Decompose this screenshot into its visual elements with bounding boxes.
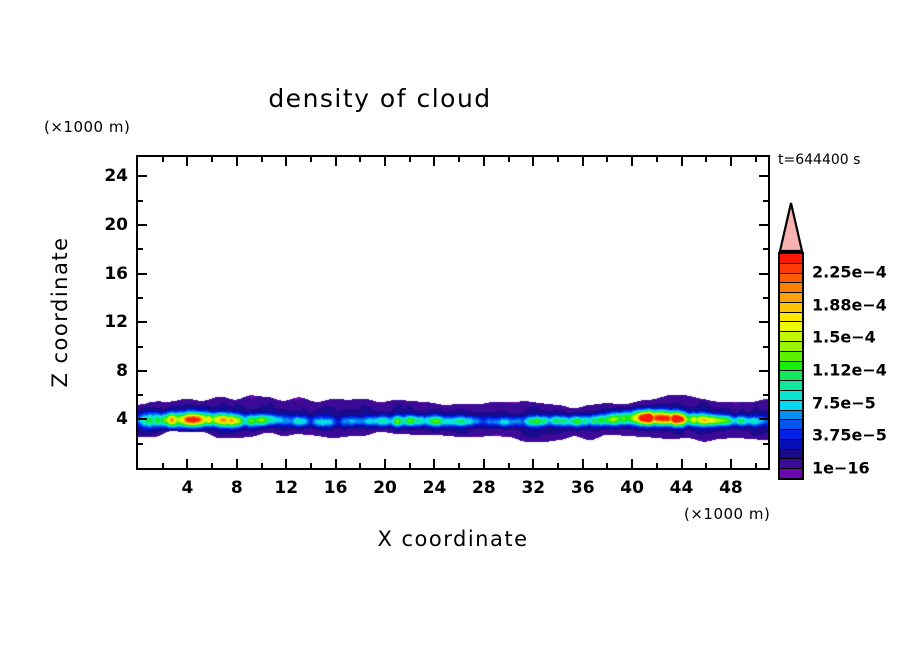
- tick-mark: [606, 157, 608, 162]
- tick-mark: [763, 443, 768, 445]
- tick-mark: [458, 157, 460, 162]
- colorbar-tick-label: 7.5e−5: [812, 393, 876, 412]
- colorbar-tick-label: 1.12e−4: [812, 361, 887, 380]
- colorbar: [778, 202, 804, 480]
- y-tick-label: 8: [90, 361, 128, 381]
- colorbar-arrow-cap-icon: [778, 202, 804, 252]
- x-tick-label: 36: [571, 478, 595, 498]
- tick-mark: [759, 273, 768, 275]
- colorbar-segment: [780, 391, 802, 401]
- x-tick-label: 16: [324, 478, 348, 498]
- tick-mark: [261, 463, 263, 468]
- tick-mark: [705, 157, 707, 162]
- tick-mark: [606, 463, 608, 468]
- colorbar-segment: [780, 313, 802, 323]
- tick-mark: [138, 418, 147, 420]
- tick-mark: [458, 463, 460, 468]
- tick-mark: [763, 248, 768, 250]
- x-tick-label: 4: [181, 478, 193, 498]
- x-tick-label: 32: [521, 478, 545, 498]
- tick-mark: [261, 157, 263, 162]
- colorbar-segment: [780, 430, 802, 440]
- tick-mark: [138, 321, 147, 323]
- tick-mark: [532, 157, 534, 166]
- tick-mark: [631, 459, 633, 468]
- tick-mark: [557, 157, 559, 162]
- x-axis-unit-label: (×1000 m): [684, 505, 770, 523]
- colorbar-segment: [780, 303, 802, 313]
- x-tick-label: 44: [670, 478, 694, 498]
- tick-mark: [138, 224, 147, 226]
- tick-mark: [138, 443, 143, 445]
- tick-mark: [759, 224, 768, 226]
- page-title: density of cloud: [0, 84, 760, 113]
- tick-mark: [335, 459, 337, 468]
- tick-mark: [557, 463, 559, 468]
- colorbar-tick-label: 1.88e−4: [812, 295, 887, 314]
- colorbar-segment: [780, 362, 802, 372]
- colorbar-segment: [780, 322, 802, 332]
- tick-mark: [310, 463, 312, 468]
- tick-mark: [285, 157, 287, 166]
- tick-mark: [211, 157, 213, 162]
- x-tick-label: 24: [423, 478, 447, 498]
- y-tick-label: 24: [90, 166, 128, 186]
- tick-mark: [483, 157, 485, 166]
- tick-mark: [186, 157, 188, 166]
- colorbar-segment: [780, 342, 802, 352]
- tick-mark: [582, 157, 584, 166]
- tick-mark: [359, 463, 361, 468]
- tick-mark: [162, 157, 164, 162]
- colorbar-segment: [780, 469, 802, 478]
- tick-mark: [730, 459, 732, 468]
- tick-mark: [138, 248, 143, 250]
- colorbar-segment: [780, 401, 802, 411]
- tick-mark: [508, 157, 510, 162]
- x-tick-label: 28: [472, 478, 496, 498]
- tick-mark: [755, 157, 757, 162]
- colorbar-tick-label: 1e−16: [812, 458, 870, 477]
- colorbar-segments: [778, 252, 804, 480]
- tick-mark: [763, 346, 768, 348]
- tick-mark: [138, 346, 143, 348]
- tick-mark: [681, 459, 683, 468]
- tick-mark: [705, 463, 707, 468]
- tick-mark: [138, 297, 143, 299]
- plot-area: [136, 155, 770, 470]
- tick-mark: [763, 394, 768, 396]
- tick-mark: [763, 200, 768, 202]
- tick-mark: [582, 459, 584, 468]
- tick-mark: [409, 157, 411, 162]
- tick-mark: [759, 175, 768, 177]
- tick-mark: [335, 157, 337, 166]
- x-tick-label: 40: [620, 478, 644, 498]
- colorbar-segment: [780, 283, 802, 293]
- cloud-density-field: [138, 157, 768, 468]
- tick-mark: [508, 463, 510, 468]
- colorbar-segment: [780, 264, 802, 274]
- tick-mark: [138, 370, 147, 372]
- x-axis-title: X coordinate: [136, 527, 770, 551]
- colorbar-tick-label: 2.25e−4: [812, 263, 887, 282]
- tick-mark: [384, 459, 386, 468]
- colorbar-segment: [780, 459, 802, 469]
- x-tick-label: 8: [231, 478, 243, 498]
- figure-root: density of cloud (×1000 m) (×1000 m) Z c…: [0, 0, 904, 654]
- y-axis-title: Z coordinate: [48, 212, 72, 412]
- colorbar-segment: [780, 254, 802, 264]
- colorbar-segment: [780, 332, 802, 342]
- x-tick-label: 20: [373, 478, 397, 498]
- colorbar-segment: [780, 274, 802, 284]
- tick-mark: [285, 459, 287, 468]
- y-tick-label: 12: [90, 312, 128, 332]
- tick-mark: [759, 418, 768, 420]
- timestamp-annotation: t=644400 s: [778, 152, 860, 168]
- tick-mark: [138, 394, 143, 396]
- tick-mark: [532, 459, 534, 468]
- tick-mark: [138, 273, 147, 275]
- tick-mark: [656, 463, 658, 468]
- y-axis-unit-label: (×1000 m): [44, 118, 130, 136]
- colorbar-segment: [780, 381, 802, 391]
- tick-mark: [755, 463, 757, 468]
- colorbar-segment: [780, 371, 802, 381]
- y-tick-label: 16: [90, 264, 128, 284]
- tick-mark: [433, 459, 435, 468]
- y-tick-label: 4: [90, 409, 128, 429]
- tick-mark: [186, 459, 188, 468]
- colorbar-tick-label: 3.75e−5: [812, 426, 887, 445]
- tick-mark: [236, 157, 238, 166]
- tick-mark: [409, 463, 411, 468]
- x-tick-label: 12: [274, 478, 298, 498]
- colorbar-segment: [780, 293, 802, 303]
- colorbar-segment: [780, 411, 802, 421]
- tick-mark: [310, 157, 312, 162]
- tick-mark: [236, 459, 238, 468]
- colorbar-segment: [780, 352, 802, 362]
- tick-mark: [138, 175, 147, 177]
- tick-mark: [138, 200, 143, 202]
- tick-mark: [730, 157, 732, 166]
- tick-mark: [759, 321, 768, 323]
- tick-mark: [359, 157, 361, 162]
- colorbar-segment: [780, 420, 802, 430]
- tick-mark: [384, 157, 386, 166]
- tick-mark: [656, 157, 658, 162]
- colorbar-tick-label: 1.5e−4: [812, 328, 876, 347]
- tick-mark: [763, 297, 768, 299]
- tick-mark: [162, 463, 164, 468]
- tick-mark: [483, 459, 485, 468]
- x-tick-label: 48: [719, 478, 743, 498]
- tick-mark: [433, 157, 435, 166]
- tick-mark: [631, 157, 633, 166]
- tick-mark: [759, 370, 768, 372]
- y-tick-label: 20: [90, 215, 128, 235]
- tick-mark: [681, 157, 683, 166]
- tick-mark: [211, 463, 213, 468]
- colorbar-segment: [780, 440, 802, 450]
- colorbar-segment: [780, 450, 802, 460]
